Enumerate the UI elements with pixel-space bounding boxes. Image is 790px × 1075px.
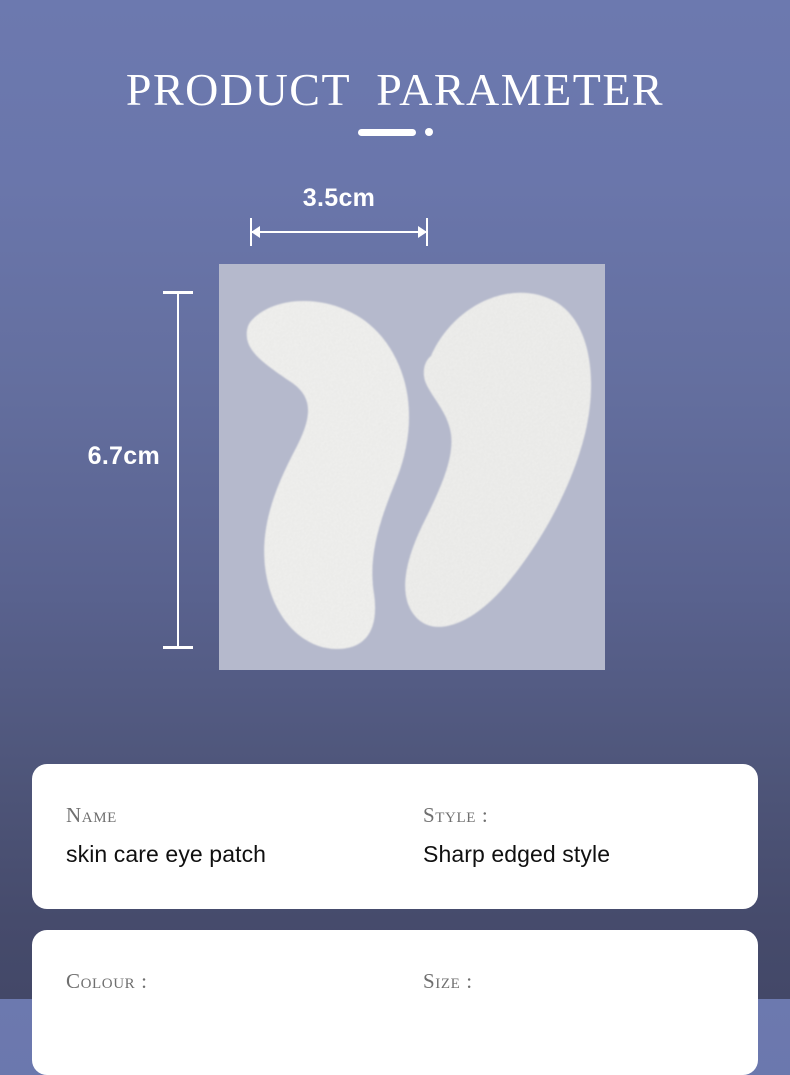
spec-card-2: Colour : Size : <box>32 930 758 1075</box>
page-header: PRODUCT PARAMETER <box>0 62 790 136</box>
page-title: PRODUCT PARAMETER <box>0 62 790 118</box>
height-cap-bottom-icon <box>163 646 193 649</box>
spec-cell-style: Style : Sharp edged style <box>395 802 724 871</box>
title-underline-decoration <box>0 128 790 136</box>
spec-label-name: Name <box>66 802 395 828</box>
spec-label-colour: Colour : <box>66 968 395 994</box>
width-arrow-icon <box>250 218 428 250</box>
spec-cell-size: Size : <box>395 968 724 1003</box>
spec-row-1: Name skin care eye patch Style : Sharp e… <box>32 764 758 909</box>
arrow-head-left-icon <box>251 226 260 238</box>
spec-value-style: Sharp edged style <box>423 837 724 871</box>
product-image <box>219 264 605 670</box>
spec-cell-name: Name skin care eye patch <box>66 802 395 871</box>
underline-bar-icon <box>358 129 416 136</box>
underline-dot-icon <box>425 128 433 136</box>
width-arrow-line-icon <box>251 231 427 233</box>
arrow-head-right-icon <box>418 226 427 238</box>
width-dimension-label: 3.5cm <box>250 184 428 212</box>
spec-label-size: Size : <box>423 968 724 994</box>
height-dimension-line-icon <box>177 292 179 648</box>
height-dimension-label: 6.7cm <box>52 442 160 471</box>
spec-card-1: Name skin care eye patch Style : Sharp e… <box>32 764 758 909</box>
spec-label-style: Style : <box>423 802 724 828</box>
spec-row-2: Colour : Size : <box>32 930 758 1075</box>
height-dimension-group: 6.7cm <box>162 290 194 650</box>
spec-cell-colour: Colour : <box>66 968 395 1003</box>
spec-value-name: skin care eye patch <box>66 837 395 871</box>
eye-patch-illustration <box>219 264 605 670</box>
width-dimension-group: 3.5cm <box>250 184 428 250</box>
